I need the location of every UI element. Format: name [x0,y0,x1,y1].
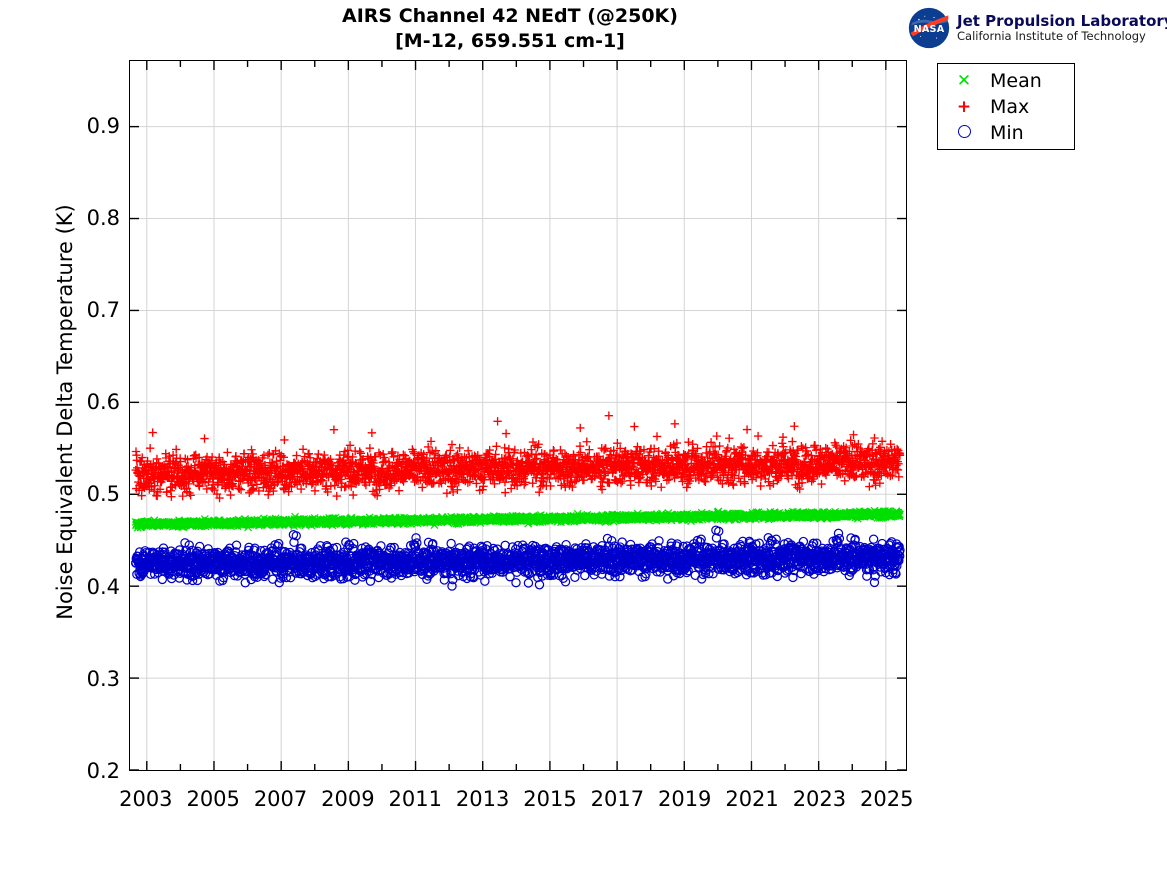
series-max [132,412,905,503]
plot-data-layer [130,61,906,770]
chart-legend: ✕ Mean + Max Min [937,63,1075,150]
legend-marker-x-icon: ✕ [938,73,990,90]
jpl-lab-name: Jet Propulsion Laboratory [957,13,1167,29]
y-tick-label: 0.5 [50,482,120,506]
svg-text:NASA: NASA [914,24,945,35]
legend-marker-circle-icon [938,125,990,142]
legend-item-mean: ✕ Mean [938,68,1074,94]
jpl-logo: NASA Jet Propulsion Laboratory Californi… [908,8,1148,48]
series-min [132,526,904,590]
legend-label-mean: Mean [990,70,1042,92]
jpl-institute-name: California Institute of Technology [957,30,1167,42]
legend-item-max: + Max [938,94,1074,120]
y-tick-label: 0.7 [50,298,120,322]
legend-label-max: Max [990,96,1029,118]
legend-item-min: Min [938,120,1074,146]
title-line-1: AIRS Channel 42 NEdT (@250K) [0,4,1020,29]
plot-area [129,60,907,771]
y-tick-label: 0.4 [50,575,120,599]
y-tick-label: 0.6 [50,390,120,414]
x-tick-label: 2025 [847,787,927,811]
x-axis-tick-labels: 2003200520072009201120132015201720192021… [129,787,907,817]
nasa-meatball-icon: NASA [908,7,950,49]
legend-label-min: Min [990,122,1024,144]
series-mean [132,507,903,531]
y-tick-label: 0.8 [50,206,120,230]
y-axis-tick-labels: 0.20.30.40.50.60.70.80.9 [42,60,120,771]
jpl-logo-text: Jet Propulsion Laboratory California Ins… [957,13,1167,43]
title-line-2: [M-12, 659.551 cm-1] [0,29,1020,54]
y-tick-label: 0.2 [50,759,120,783]
y-tick-label: 0.9 [50,114,120,138]
page-title: AIRS Channel 42 NEdT (@250K) [M-12, 659.… [0,4,1020,54]
legend-marker-plus-icon: + [938,99,990,116]
y-tick-label: 0.3 [50,667,120,691]
